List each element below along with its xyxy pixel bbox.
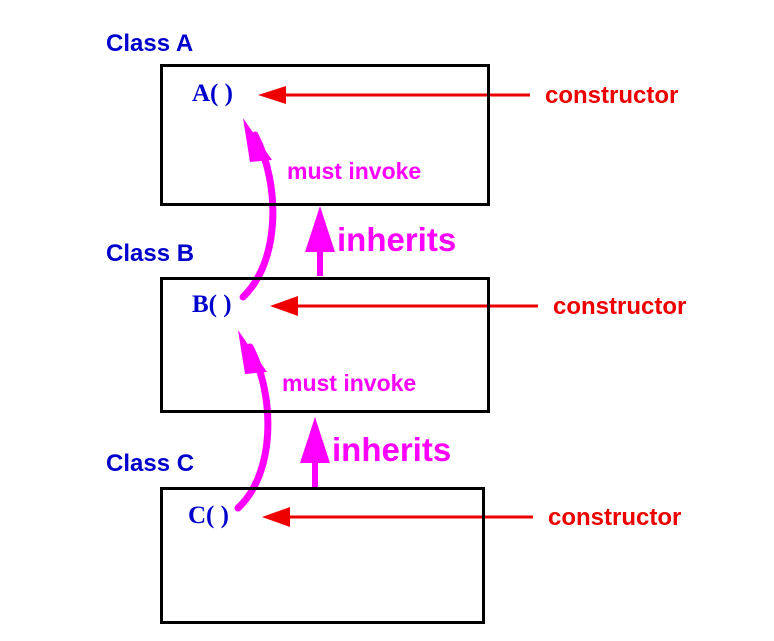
class-label-b: Class B — [106, 240, 194, 268]
class-label-c: Class C — [106, 450, 194, 478]
constructor-label-a: constructor — [545, 82, 678, 110]
must-invoke-label-b-to-a: must invoke — [287, 158, 421, 185]
constructor-label-b: constructor — [553, 293, 686, 321]
class-label-a: Class A — [106, 30, 193, 58]
method-label-c: C( ) — [188, 502, 229, 530]
diagram-canvas: Class A A( ) constructor must invoke inh… — [0, 0, 774, 641]
inherits-label-c-to-b: inherits — [332, 431, 451, 469]
method-label-a: A( ) — [192, 80, 233, 108]
method-label-b: B( ) — [192, 291, 232, 319]
constructor-label-c: constructor — [548, 504, 681, 532]
must-invoke-label-c-to-b: must invoke — [282, 370, 416, 397]
inherits-arrow-c-to-b — [300, 417, 330, 487]
inherits-arrow-b-to-a — [305, 206, 335, 276]
inherits-label-b-to-a: inherits — [337, 221, 456, 259]
